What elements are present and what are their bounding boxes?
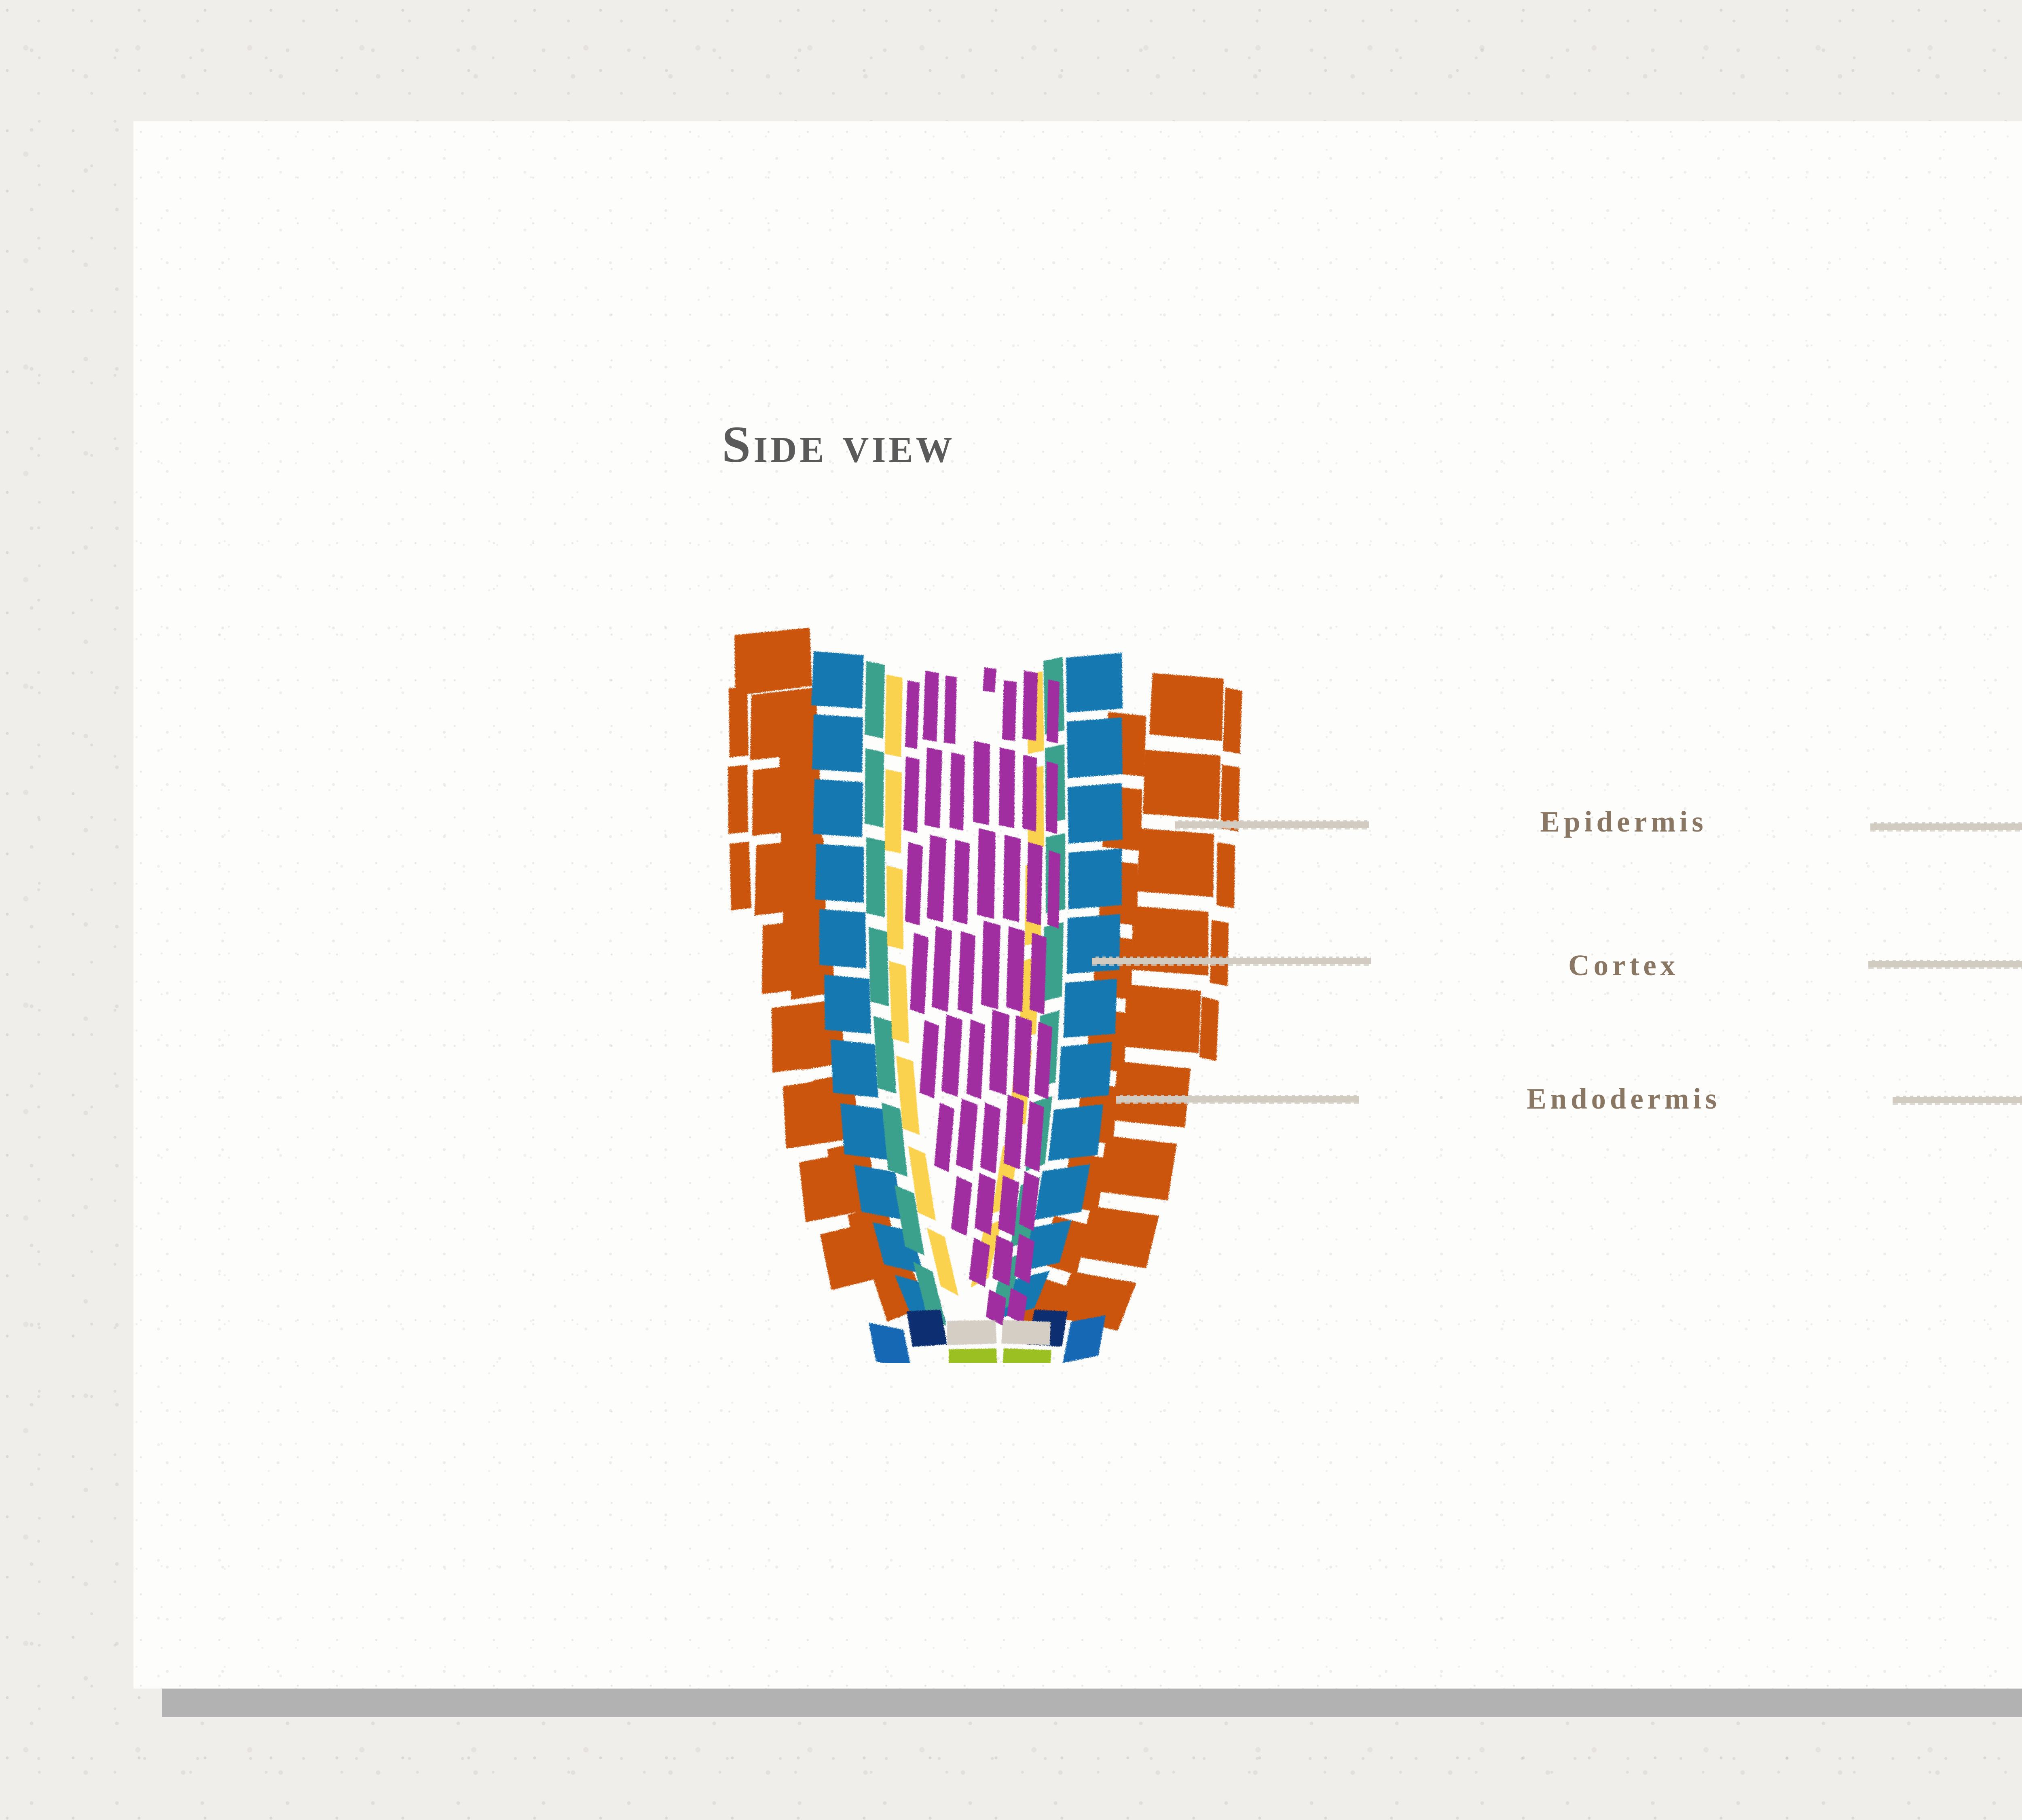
side-view-diagram [704,619,1270,1363]
leader-line-endodermis-left [1116,1096,1359,1103]
page-root: Side view Top view Epidermis Cortex Endo… [0,0,2022,1820]
side-initials-beige [947,1320,1051,1345]
leader-line-endodermis-right [1893,1097,2022,1103]
leader-line-epidermis-right [1870,823,2022,830]
top-view-diagram [1994,671,2022,1197]
label-epidermis: Epidermis [1540,807,1707,836]
side-meristem-cells [949,1348,1051,1363]
label-endodermis: Endodermis [1527,1084,1721,1113]
label-cortex: Cortex [1568,950,1679,980]
leader-line-epidermis-left [1175,821,1369,828]
side-view-title: Side view [722,419,955,470]
leader-line-cortex-right [1868,961,2022,967]
leader-line-cortex-left [1092,958,1371,964]
